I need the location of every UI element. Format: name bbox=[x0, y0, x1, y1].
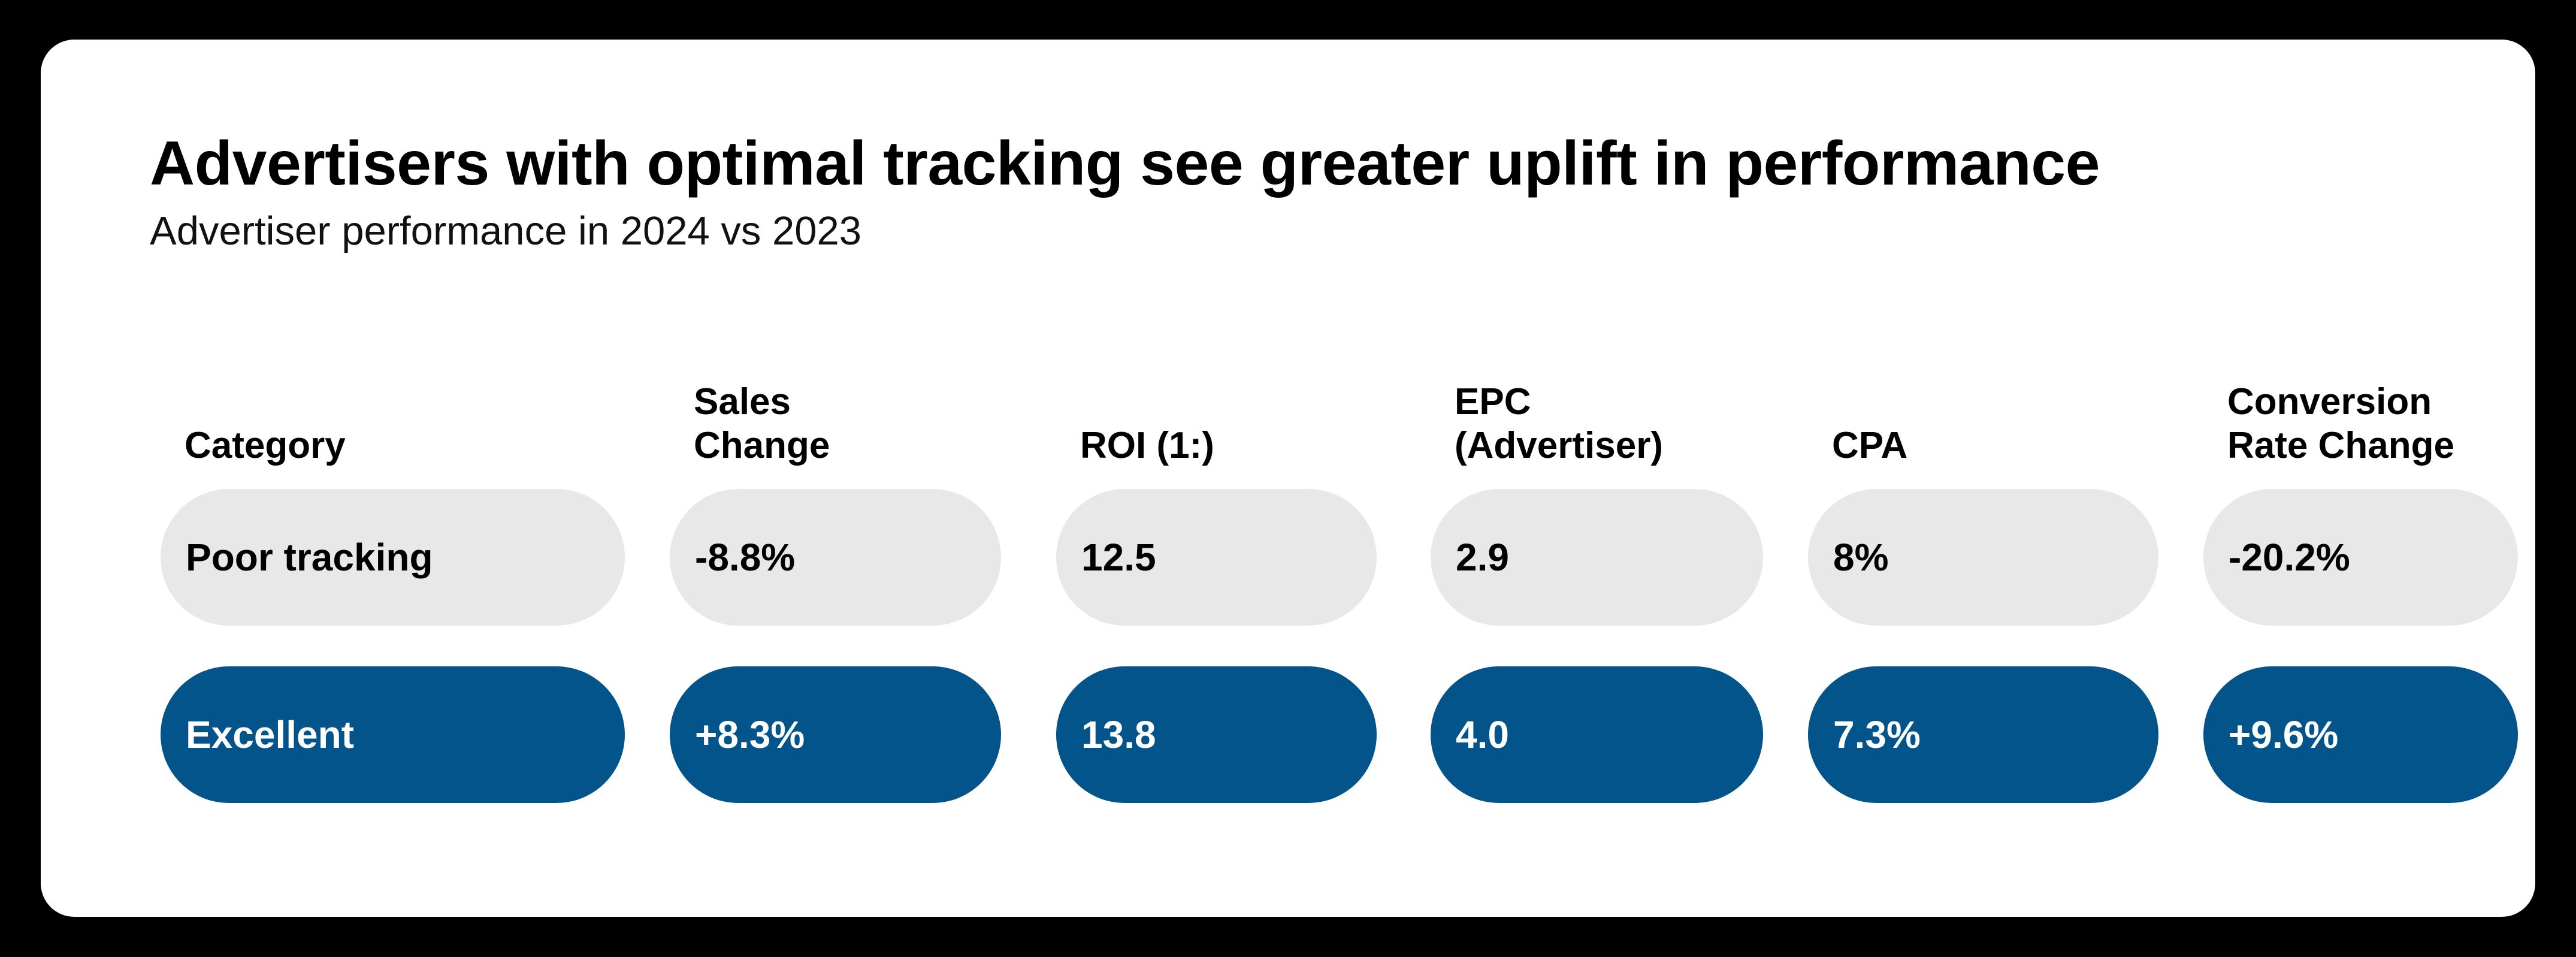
cell-pill-epc-advertiser: 2.9 bbox=[1431, 489, 1763, 626]
cell-value: Poor tracking bbox=[186, 538, 433, 576]
cell-value: Excellent bbox=[186, 716, 354, 754]
chart-header: Advertisers with optimal tracking see gr… bbox=[150, 131, 2426, 253]
cell-value: 7.3% bbox=[1833, 716, 1921, 754]
cell-pill-conversion-rate-change: -20.2% bbox=[2203, 489, 2518, 626]
cell-pill-roi: 13.8 bbox=[1056, 666, 1377, 803]
cell-gap bbox=[1001, 666, 1056, 803]
cell-value: 2.9 bbox=[1456, 538, 1509, 576]
cell-pill-sales-change: -8.8% bbox=[670, 489, 1001, 626]
cell-gap bbox=[1377, 489, 1431, 626]
cell-value: +8.3% bbox=[695, 716, 805, 754]
table-row: Excellent +8.3% 13.8 4.0 7.3% bbox=[161, 666, 2533, 803]
cell-pill-roi: 12.5 bbox=[1056, 489, 1377, 626]
screenshot-root: Advertisers with optimal tracking see gr… bbox=[0, 0, 2576, 957]
cell-gap bbox=[2158, 489, 2203, 626]
column-header-sales-change: Sales Change bbox=[670, 380, 1001, 471]
column-header-category: Category bbox=[161, 424, 625, 471]
comparison-table: Category Sales Change ROI (1:) EPC (Adve… bbox=[161, 363, 2533, 803]
cell-value: 4.0 bbox=[1456, 716, 1509, 754]
cell-gap bbox=[1001, 489, 1056, 626]
chart-subtitle: Advertiser performance in 2024 vs 2023 bbox=[150, 210, 2426, 253]
cell-pill-epc-advertiser: 4.0 bbox=[1431, 666, 1763, 803]
cell-value: -20.2% bbox=[2229, 538, 2350, 576]
cell-pill-sales-change: +8.3% bbox=[670, 666, 1001, 803]
cell-value: +9.6% bbox=[2229, 716, 2338, 754]
cell-pill-conversion-rate-change: +9.6% bbox=[2203, 666, 2518, 803]
cell-value: 12.5 bbox=[1081, 538, 1156, 576]
cell-gap bbox=[1763, 489, 1808, 626]
table-header-row: Category Sales Change ROI (1:) EPC (Adve… bbox=[161, 363, 2533, 471]
cell-gap bbox=[625, 666, 670, 803]
cell-value: 8% bbox=[1833, 538, 1889, 576]
cell-value: -8.8% bbox=[695, 538, 795, 576]
cell-pill-cpa: 7.3% bbox=[1808, 666, 2158, 803]
cell-gap bbox=[1377, 666, 1431, 803]
cell-value: 13.8 bbox=[1081, 716, 1156, 754]
cell-gap bbox=[2158, 666, 2203, 803]
column-header-roi: ROI (1:) bbox=[1056, 424, 1377, 471]
chart-title: Advertisers with optimal tracking see gr… bbox=[150, 131, 2426, 197]
table-row: Poor tracking -8.8% 12.5 2.9 8% bbox=[161, 489, 2533, 626]
cell-gap bbox=[625, 489, 670, 626]
cell-pill-cpa: 8% bbox=[1808, 489, 2158, 626]
cell-gap bbox=[1763, 666, 1808, 803]
column-header-cpa: CPA bbox=[1808, 424, 2158, 471]
column-header-epc-advertiser: EPC (Advertiser) bbox=[1431, 380, 1763, 471]
cell-pill-category: Excellent bbox=[161, 666, 625, 803]
chart-card: Advertisers with optimal tracking see gr… bbox=[41, 40, 2535, 917]
column-header-conversion-rate-change: Conversion Rate Change bbox=[2203, 380, 2518, 471]
cell-pill-category: Poor tracking bbox=[161, 489, 625, 626]
